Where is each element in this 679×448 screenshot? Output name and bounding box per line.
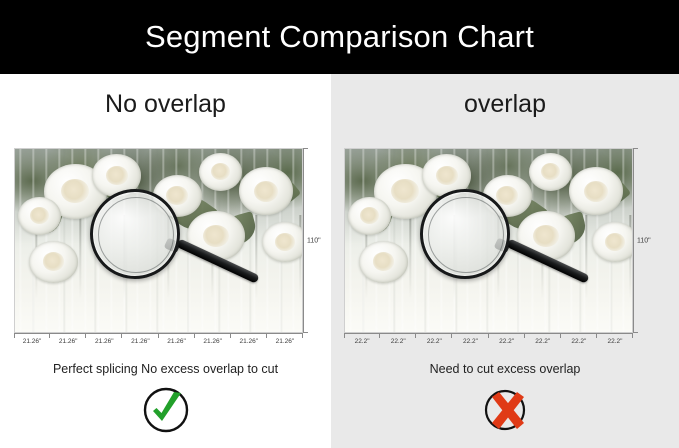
verdict-no-overlap (0, 384, 331, 436)
comparison-panels: No overlap (0, 74, 679, 448)
panel-heading-overlap: overlap (331, 90, 679, 119)
check-mark-icon (140, 384, 192, 436)
segment-tick-group: 21.26" (195, 333, 231, 355)
verdict-overlap (331, 384, 679, 436)
segment-label: 21.26" (159, 338, 195, 345)
flower-bloom (199, 153, 242, 191)
ruler-tick (303, 148, 308, 149)
segment-label: 21.26" (122, 338, 158, 345)
ruler-tick (303, 332, 308, 333)
segment-tick-group: 22.2" (416, 333, 452, 355)
flower-bloom (29, 241, 78, 283)
segment-label: 22.2" (525, 338, 561, 345)
segment-label: 22.2" (489, 338, 525, 345)
segment-comparison-page: Segment Comparison Chart No overlap (0, 0, 679, 448)
panel-heading-no-overlap: No overlap (0, 90, 331, 119)
segment-tick-group: 22.2" (525, 333, 561, 355)
segment-label: 22.2" (561, 338, 597, 345)
magnifier-lens (420, 189, 510, 279)
flower-bloom (529, 153, 572, 191)
segment-tick-group: 21.26" (231, 333, 267, 355)
segment-tick-group: 22.2" (380, 333, 416, 355)
segment-label: 21.26" (195, 338, 231, 345)
segment-ruler-no-overlap: 21.26" 21.26" 21.26" 21.26" 21.26" 21.26… (14, 333, 303, 355)
segment-label: 21.26" (86, 338, 122, 345)
segment-label: 22.2" (452, 338, 488, 345)
panel-overlap: overlap (331, 74, 679, 448)
flower-bloom (239, 167, 294, 215)
height-label: 110" (307, 237, 321, 244)
segment-tick-group: 22.2" (344, 333, 380, 355)
segment-tick-group: 21.26" (122, 333, 158, 355)
segment-label: 21.26" (50, 338, 86, 345)
floral-mural-image (14, 148, 303, 333)
flower-bloom (348, 197, 391, 235)
height-ruler-overlap: 110" (633, 148, 655, 333)
height-label: 110" (637, 237, 651, 244)
magnifier-lens (90, 189, 180, 279)
segment-label: 22.2" (416, 338, 452, 345)
segment-label: 21.26" (14, 338, 50, 345)
mural-overlap (344, 148, 633, 333)
ruler-line (633, 148, 634, 333)
segment-ruler-overlap: 22.2" 22.2" 22.2" 22.2" 22.2" 22.2" 22.2… (344, 333, 633, 355)
ruler-tick (633, 148, 638, 149)
flower-bloom (262, 222, 303, 262)
segment-tick-group: 21.26" (267, 333, 303, 355)
segment-tick-group: 22.2" (561, 333, 597, 355)
ruler-tick (633, 332, 638, 333)
title-banner: Segment Comparison Chart (0, 0, 679, 74)
panel-no-overlap: No overlap (0, 74, 331, 448)
segment-label: 22.2" (344, 338, 380, 345)
caption-overlap: Need to cut excess overlap (331, 362, 679, 376)
segment-tick-group: 21.26" (14, 333, 50, 355)
segment-label: 21.26" (231, 338, 267, 345)
segment-label: 21.26" (267, 338, 303, 345)
segment-tick-group: 21.26" (50, 333, 86, 355)
segment-tick-group: 22.2" (597, 333, 633, 355)
cross-mark-icon (479, 384, 531, 436)
segment-tick-group: 22.2" (489, 333, 525, 355)
floral-mural-image (344, 148, 633, 333)
flower-bloom (569, 167, 624, 215)
segment-label: 22.2" (380, 338, 416, 345)
flower-bloom (18, 197, 61, 235)
segment-tick-group: 21.26" (86, 333, 122, 355)
height-ruler-no-overlap: 110" (303, 148, 325, 333)
page-title: Segment Comparison Chart (145, 19, 534, 55)
caption-no-overlap: Perfect splicing No excess overlap to cu… (0, 362, 331, 376)
segment-label: 22.2" (597, 338, 633, 345)
segment-tick-group: 21.26" (159, 333, 195, 355)
mural-no-overlap (14, 148, 303, 333)
flower-bloom (359, 241, 408, 283)
segment-tick-group: 22.2" (452, 333, 488, 355)
ruler-line (303, 148, 304, 333)
flower-bloom (592, 222, 633, 262)
